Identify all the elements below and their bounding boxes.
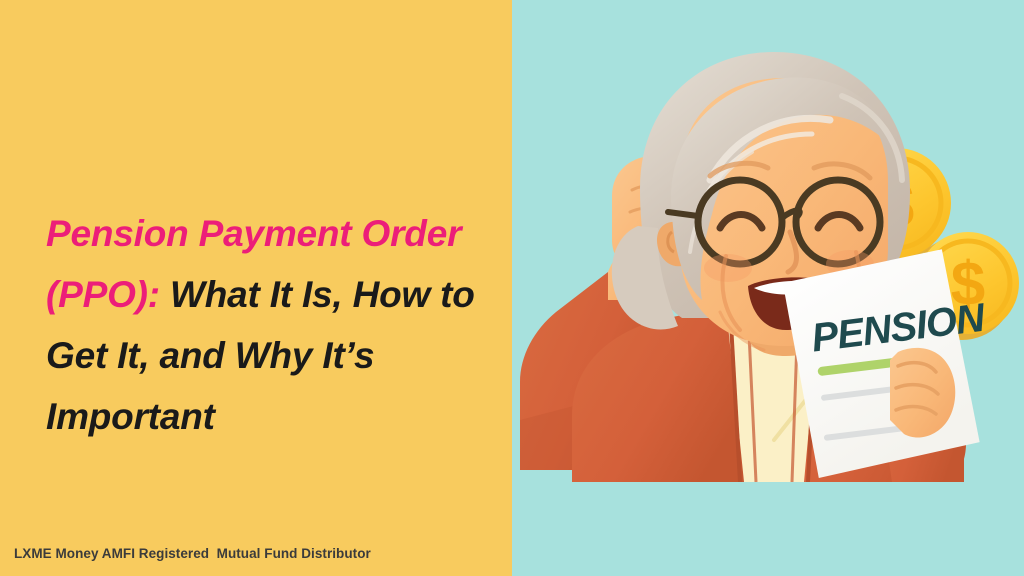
glasses-temple-arm xyxy=(668,212,698,216)
cheek-left-blush xyxy=(704,254,752,282)
disclaimer-text: LXME Money AMFI Registered Mutual Fund D… xyxy=(14,546,371,561)
left-text-panel: Pension Payment Order (PPO): What It Is,… xyxy=(0,0,512,576)
headline-space-1 xyxy=(351,213,361,254)
banner-root: Pension Payment Order (PPO): What It Is,… xyxy=(0,0,1024,576)
pension-celebration-illustration: $ $ xyxy=(512,0,1024,576)
headline-accent-part-1: Pension Payment xyxy=(46,213,351,254)
illustration-bottom-crop xyxy=(512,482,1024,576)
page-title: Pension Payment Order (PPO): What It Is,… xyxy=(46,203,486,447)
right-illustration-panel: $ $ xyxy=(512,0,1024,576)
